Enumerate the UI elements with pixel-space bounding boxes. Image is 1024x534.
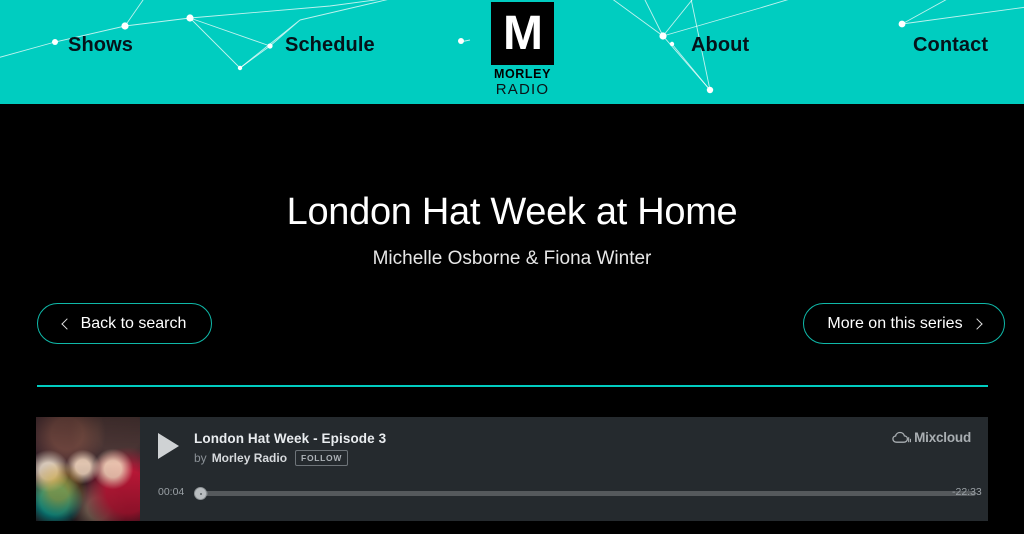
page-title: London Hat Week at Home bbox=[0, 191, 1024, 235]
more-on-this-series-button[interactable]: More on this series bbox=[803, 303, 1005, 344]
logo-wordmark-morley: MORLEY bbox=[491, 68, 554, 82]
chevron-right-icon bbox=[971, 318, 982, 329]
progress-scrubber[interactable] bbox=[200, 491, 976, 496]
section-divider bbox=[37, 385, 988, 387]
title-block: London Hat Week at Home Michelle Osborne… bbox=[0, 191, 1024, 270]
mixcloud-branding[interactable]: Mixcloud bbox=[892, 430, 971, 445]
artist-name[interactable]: Morley Radio bbox=[212, 451, 287, 465]
artwork-overlay bbox=[36, 417, 140, 521]
mixcloud-player: London Hat Week - Episode 3 by Morley Ra… bbox=[36, 417, 988, 521]
remaining-time: -22:33 bbox=[952, 486, 982, 498]
logo-mark: M bbox=[491, 2, 554, 65]
nav-item-contact[interactable]: Contact bbox=[913, 34, 988, 57]
current-time: 00:04 bbox=[158, 486, 184, 498]
track-title[interactable]: London Hat Week - Episode 3 bbox=[194, 431, 386, 446]
chevron-left-icon bbox=[61, 318, 72, 329]
mixcloud-cloud-icon bbox=[892, 431, 911, 444]
episode-artwork[interactable] bbox=[36, 417, 140, 521]
player-body: London Hat Week - Episode 3 by Morley Ra… bbox=[140, 417, 988, 521]
back-to-search-button[interactable]: Back to search bbox=[37, 303, 212, 344]
site-header: Shows Schedule About Contact M MORLEY RA… bbox=[0, 0, 1024, 104]
nav-item-about[interactable]: About bbox=[691, 34, 749, 57]
follow-button[interactable]: FOLLOW bbox=[295, 450, 348, 466]
logo-letter-m: M bbox=[503, 10, 542, 58]
byline-prefix: by bbox=[194, 451, 207, 465]
play-icon[interactable] bbox=[158, 433, 179, 459]
more-on-this-series-label: More on this series bbox=[827, 315, 962, 333]
page-subtitle: Michelle Osborne & Fiona Winter bbox=[0, 248, 1024, 270]
nav-item-shows[interactable]: Shows bbox=[68, 34, 133, 57]
logo-wordmark-radio: RADIO bbox=[491, 82, 554, 99]
main-content: London Hat Week at Home Michelle Osborne… bbox=[0, 104, 1024, 534]
back-to-search-label: Back to search bbox=[81, 315, 187, 333]
track-byline: by Morley Radio FOLLOW bbox=[194, 450, 348, 466]
player-progress-row: 00:04 -22:33 bbox=[140, 483, 988, 505]
nav-item-schedule[interactable]: Schedule bbox=[285, 34, 375, 57]
progress-handle[interactable] bbox=[194, 487, 207, 500]
site-logo[interactable]: M MORLEY RADIO bbox=[491, 2, 554, 98]
mixcloud-wordmark: Mixcloud bbox=[914, 430, 971, 445]
